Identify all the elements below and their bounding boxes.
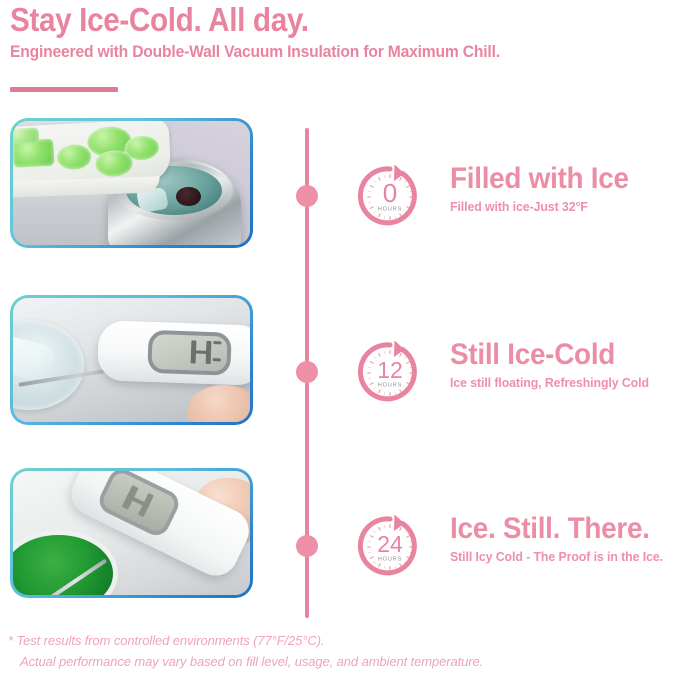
footnote-line-1: * Test results from controlled environme… bbox=[8, 630, 668, 651]
stage-subtitle-1: Ice still floating, Refreshingly Cold bbox=[450, 374, 679, 391]
stage-title-1: Still Ice-Cold bbox=[450, 338, 679, 372]
footnote-line-2: Actual performance may vary based on fil… bbox=[8, 651, 668, 672]
photo1-ice-in-glass bbox=[13, 334, 55, 384]
stage-block-1: 12 HOURS Still Ice-Cold Ice still floati… bbox=[355, 336, 675, 436]
photo-image-2: NDIA de bbox=[13, 471, 250, 595]
lcd-segment bbox=[214, 341, 222, 344]
photo1-thermometer-body bbox=[97, 320, 250, 385]
header-block: Stay Ice-Cold. All day. Engineered with … bbox=[10, 2, 670, 62]
stage-block-2: 24 HOURS Ice. Still. There. Still Icy Co… bbox=[355, 510, 675, 610]
photo0-ice-cube bbox=[56, 144, 91, 171]
lcd-segment bbox=[191, 350, 211, 354]
badge-hours-number-0: 0 bbox=[383, 178, 397, 208]
photo-image-0 bbox=[13, 121, 250, 245]
stage-block-0: 0 HOURS Filled with Ice Filled with ice-… bbox=[355, 160, 675, 260]
badge-hours-number-12: 12 bbox=[377, 357, 403, 383]
clock-badge-icon-0: 0 HOURS bbox=[355, 162, 425, 232]
photo1-lcd-display bbox=[152, 334, 228, 371]
stage-text-2: Ice. Still. There. Still Icy Cold - The … bbox=[450, 512, 679, 565]
photo0-ice-cube bbox=[124, 136, 159, 161]
photo-card-thermometer-green-drink: NDIA de bbox=[10, 468, 253, 598]
stage-subtitle-2: Still Icy Cold - The Proof is in the Ice… bbox=[450, 548, 679, 565]
photo0-dark-reflection bbox=[176, 187, 201, 207]
accent-divider-bar bbox=[10, 87, 118, 92]
photo-card-thermometer-water bbox=[10, 295, 253, 425]
infographic-page: Stay Ice-Cold. All day. Engineered with … bbox=[0, 0, 679, 675]
photo-image-1 bbox=[13, 298, 250, 422]
clock-badge-icon-24: 24 HOURS bbox=[355, 512, 425, 582]
badge-hours-label-0: HOURS bbox=[378, 207, 402, 213]
badge-hours-label-24: HOURS bbox=[378, 557, 402, 563]
photo-card-ice-tray bbox=[10, 118, 253, 248]
stage-subtitle-0: Filled with ice-Just 32°F bbox=[450, 198, 679, 215]
clock-badge-icon-12: 12 HOURS bbox=[355, 338, 425, 408]
stage-text-1: Still Ice-Cold Ice still floating, Refre… bbox=[450, 338, 679, 391]
stage-title-2: Ice. Still. There. bbox=[450, 512, 679, 546]
lcd-segment bbox=[213, 358, 221, 361]
photo0-ice-cube bbox=[13, 128, 39, 145]
stage-text-0: Filled with Ice Filled with ice-Just 32°… bbox=[450, 162, 679, 215]
photo1-screen-bezel bbox=[147, 329, 231, 375]
badge-hours-label-12: HOURS bbox=[378, 383, 402, 389]
stage-title-0: Filled with Ice bbox=[450, 162, 679, 196]
footnote-block: * Test results from controlled environme… bbox=[8, 630, 668, 672]
page-subtitle: Engineered with Double-Wall Vacuum Insul… bbox=[10, 42, 617, 62]
badge-hours-number-24: 24 bbox=[377, 531, 403, 557]
photo2-lcd-display bbox=[100, 471, 178, 535]
page-title: Stay Ice-Cold. All day. bbox=[10, 2, 604, 38]
